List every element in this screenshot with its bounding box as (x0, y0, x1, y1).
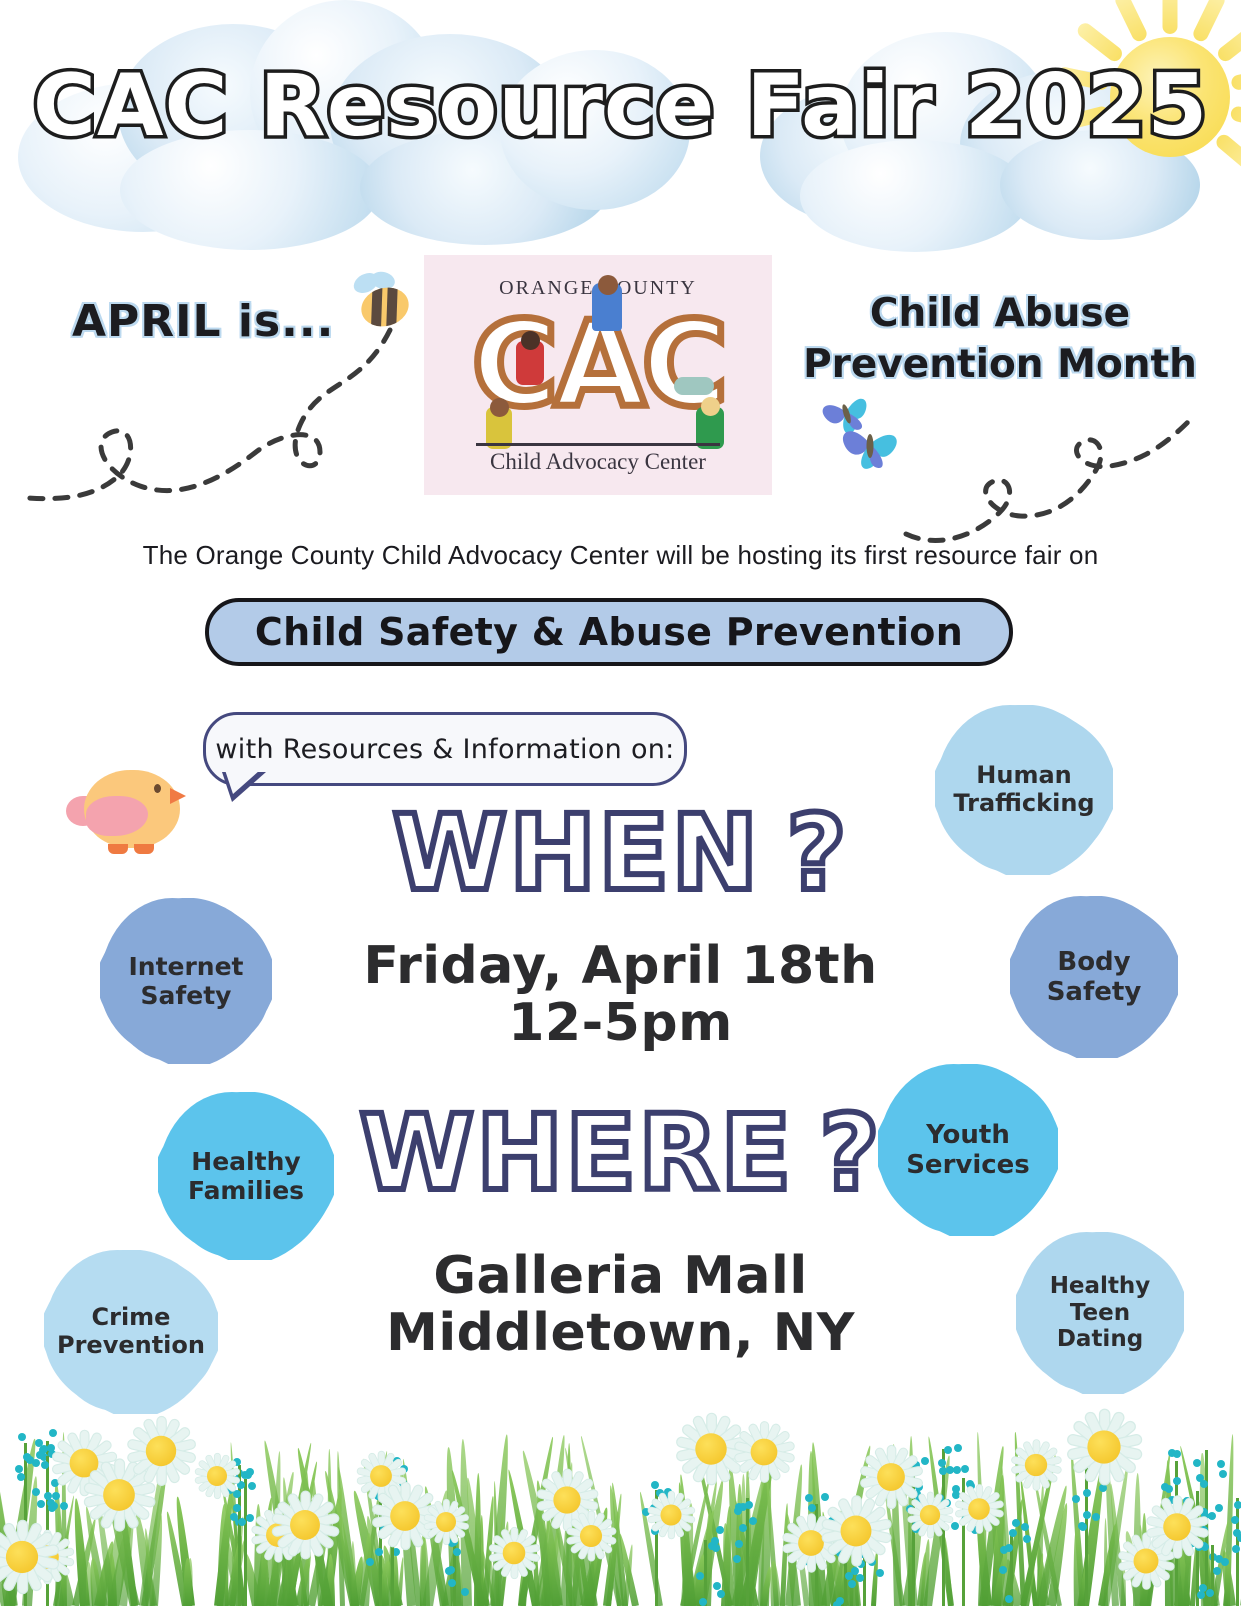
daisy-center (660, 1505, 681, 1526)
topic-blob-label: Healthy Families (188, 1147, 304, 1205)
topic-line: Healthy (188, 1147, 304, 1176)
topic-blob-label: Body Safety (1047, 947, 1142, 1007)
page-title-text: CAC Resource Fair 2025 (33, 56, 1208, 156)
berry-dot (36, 1451, 44, 1459)
topic-blob-label: Crime Prevention (57, 1304, 205, 1360)
daisy-center (503, 1541, 526, 1564)
berry-stem (1211, 1545, 1214, 1606)
berry-dot (1165, 1485, 1173, 1493)
berry-dot (248, 1482, 256, 1490)
berry-dot (1193, 1459, 1201, 1467)
logo-child-head (521, 331, 540, 350)
logo-child-head (598, 275, 618, 295)
topic-blob-internet-safety: Internet Safety (100, 898, 272, 1064)
berry-dot (821, 1493, 829, 1501)
daisy-center (798, 1530, 824, 1556)
resources-speech-bubble: with Resources & Information on: (203, 712, 687, 786)
topic-blob-healthy-teen-dating: Healthy Teen Dating (1016, 1232, 1184, 1394)
berry-dot (733, 1555, 741, 1563)
berry-dot (1208, 1512, 1216, 1520)
berry-dot (18, 1433, 26, 1441)
topic-line: Internet (128, 952, 243, 981)
where-question-mark: ? (819, 1092, 881, 1214)
berry-dot (41, 1461, 49, 1469)
flower-meadow-border (0, 1371, 1241, 1606)
topic-line: Crime (57, 1304, 205, 1332)
daisy-center (553, 1486, 580, 1513)
berry-dot (944, 1446, 952, 1454)
berry-dot (1219, 1470, 1227, 1478)
logo-child-head (490, 398, 509, 417)
daisy-center (5, 1541, 37, 1573)
daisy-center (877, 1463, 905, 1491)
cac-logo: ORANGE COUNTY CAC Child Advocacy Center (424, 255, 772, 495)
topic-line: Human (953, 762, 1094, 790)
berry-dot (953, 1466, 961, 1474)
berry-dot (17, 1473, 25, 1481)
daisy-center (436, 1512, 456, 1532)
daisy-center (1163, 1513, 1191, 1541)
berry-dot (713, 1582, 721, 1590)
logo-subtitle-text: Child Advocacy Center (424, 449, 772, 475)
daisy-center (750, 1438, 777, 1465)
berry-dot (954, 1444, 962, 1452)
topic-line: Trafficking (953, 790, 1094, 818)
topic-blob-human-trafficking: Human Trafficking (935, 705, 1113, 875)
berry-dot (1197, 1591, 1205, 1599)
berry-dot (233, 1504, 241, 1512)
berry-dot (856, 1574, 864, 1582)
berry-dot (37, 1500, 45, 1508)
topic-blob-body-safety: Body Safety (1010, 896, 1178, 1058)
resources-speech-bubble-text: with Resources & Information on: (215, 734, 674, 765)
when-heading-text: WHEN (392, 792, 760, 914)
page-title: CAC Resource Fair 2025 (0, 56, 1241, 156)
berry-dot (461, 1588, 469, 1596)
topic-line: Families (188, 1176, 304, 1205)
berry-dot (47, 1499, 55, 1507)
daisy-center (1134, 1548, 1159, 1573)
berry-dot (1173, 1450, 1181, 1458)
berry-dot (60, 1502, 68, 1510)
berry-dot (938, 1459, 946, 1467)
topic-blob-label: Healthy Teen Dating (1050, 1273, 1151, 1353)
topic-blob-label: Internet Safety (128, 952, 243, 1010)
daisy-center (1087, 1431, 1120, 1464)
topic-line: Safety (128, 981, 243, 1010)
dashed-path-icon (900, 408, 1200, 548)
where-heading-text: WHERE (359, 1092, 793, 1214)
topic-blob-healthy-families: Healthy Families (158, 1092, 334, 1260)
poster-canvas: CAC Resource Fair 2025 APRIL is... Child… (0, 0, 1241, 1606)
berry-dot (921, 1457, 929, 1465)
berry-dot (1215, 1504, 1223, 1512)
topic-banner-text: Child Safety & Abuse Prevention (255, 610, 963, 654)
daisy-center (969, 1498, 991, 1520)
berry-dot (246, 1514, 254, 1522)
topic-banner: Child Safety & Abuse Prevention (205, 598, 1013, 666)
prevention-month-line1: Child Abuse (800, 288, 1200, 339)
berry-dot (745, 1501, 753, 1509)
berry-dot (23, 1453, 31, 1461)
logo-child-figure (674, 377, 714, 395)
berry-dot (1237, 1534, 1241, 1542)
berry-stem (244, 1479, 247, 1606)
topic-line: Body (1047, 947, 1142, 977)
berry-dot (1200, 1480, 1208, 1488)
topic-blob-label: Human Trafficking (953, 762, 1094, 818)
berry-dot (735, 1540, 743, 1548)
daisy-center (695, 1433, 726, 1464)
berry-stem (1085, 1463, 1088, 1606)
daisy-center (103, 1479, 135, 1511)
prevention-month-line2: Prevention Month (800, 339, 1200, 390)
berry-dot (15, 1465, 23, 1473)
topic-line: Safety (1047, 977, 1142, 1007)
berry-dot (447, 1566, 455, 1574)
berry-dot (1005, 1595, 1013, 1603)
logo-divider (476, 443, 720, 446)
berry-dot (1072, 1495, 1080, 1503)
berry-dot (1231, 1516, 1239, 1524)
berry-dot (1173, 1477, 1181, 1485)
topic-blob-youth-services: Youth Services (878, 1064, 1058, 1236)
berry-stem (746, 1498, 749, 1606)
berry-dot (1083, 1489, 1091, 1497)
berry-dot (651, 1481, 659, 1489)
berry-dot (32, 1488, 40, 1496)
berry-dot (448, 1579, 456, 1587)
berry-dot (47, 1444, 55, 1452)
berry-dot (1083, 1511, 1091, 1519)
berry-dot (711, 1537, 719, 1545)
berry-dot (366, 1558, 374, 1566)
berry-dot (833, 1601, 841, 1606)
when-question-mark: ? (786, 792, 848, 914)
speech-bubble-tail-inner (225, 770, 260, 794)
intro-sentence: The Orange County Child Advocacy Center … (0, 540, 1241, 571)
topic-blob-label: Youth Services (906, 1120, 1030, 1180)
berry-dot (49, 1429, 57, 1437)
berry-dot (1009, 1529, 1017, 1537)
daisy-center (370, 1465, 392, 1487)
daisy-center (390, 1501, 420, 1531)
berry-stem (704, 1540, 707, 1606)
dashed-path-icon (20, 320, 400, 520)
berry-dot (961, 1465, 969, 1473)
daisy-center (919, 1504, 939, 1524)
berry-dot (876, 1569, 884, 1577)
berry-dot (716, 1526, 724, 1534)
berry-dot (1217, 1460, 1225, 1468)
berry-dot (1092, 1513, 1100, 1521)
berry-dot (1234, 1501, 1241, 1509)
berry-dot (848, 1580, 856, 1588)
berry-dot (951, 1522, 959, 1530)
logo-child-head (701, 397, 720, 416)
berry-dot (696, 1572, 704, 1580)
topic-line: Youth (906, 1120, 1030, 1150)
berry-dot (244, 1471, 252, 1479)
berry-dot (1232, 1545, 1240, 1553)
topic-line: Healthy (1050, 1273, 1151, 1300)
berry-dot (808, 1504, 816, 1512)
daisy-center (146, 1436, 176, 1466)
prevention-month-tagline: Child Abuse Prevention Month (800, 288, 1200, 391)
daisy-center (580, 1525, 602, 1547)
topic-line: Teen (1050, 1300, 1151, 1327)
topic-line: Prevention (57, 1332, 205, 1360)
topic-line: Services (906, 1150, 1030, 1180)
topic-line: Dating (1050, 1326, 1151, 1353)
